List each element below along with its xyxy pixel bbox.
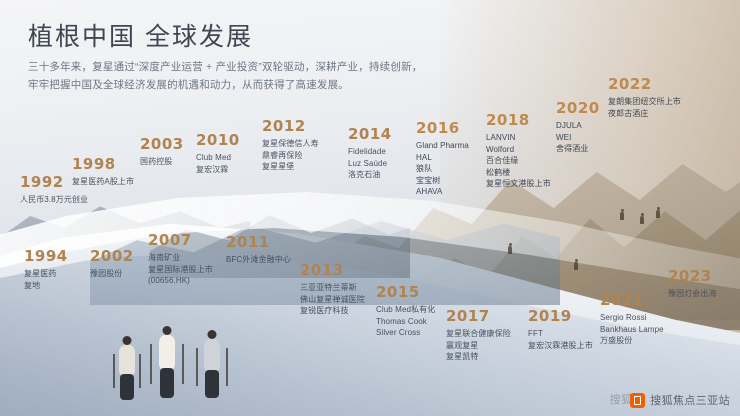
- timeline-desc-line: 狼队: [416, 163, 469, 175]
- page-title: 植根中国 全球发展: [28, 22, 253, 52]
- timeline-node-2022[interactable]: 2022 复朗集团纽交所上市 夜郎古酒庄: [608, 76, 681, 119]
- timeline-desc-line: 洛克石油: [348, 169, 392, 181]
- timeline-desc-line: BFC外滩金融中心: [226, 254, 291, 266]
- timeline-desc-line: 人民币3.8万元创业: [20, 194, 88, 206]
- page-subtitle: 三十多年来，复星通过“深度产业运营 + 产业投资”双轮驱动，深耕产业，持续创新，…: [28, 58, 498, 94]
- timeline-node-2010[interactable]: 2010 Club Med 复宏汉霖: [196, 132, 240, 175]
- timeline-year: 1998: [72, 156, 134, 173]
- timeline-desc: 国药控股: [140, 156, 184, 168]
- timeline-desc-line: HAL: [416, 152, 469, 164]
- timeline-year: 2020: [556, 100, 600, 117]
- timeline-node-2012[interactable]: 2012 复星保德信人寿 鼎睿再保险 复星星堡: [262, 118, 319, 173]
- timeline-desc-line: 豫园股份: [90, 268, 134, 280]
- timeline-desc-line: Sergio Rossi: [600, 312, 664, 324]
- timeline-node-2021[interactable]: 2021 Sergio Rossi Bankhaus Lampe 万盛股份: [600, 292, 664, 347]
- timeline-year: 2002: [90, 248, 134, 265]
- timeline-desc: Sergio Rossi Bankhaus Lampe 万盛股份: [600, 312, 664, 347]
- timeline-desc: 豫园股份: [90, 268, 134, 280]
- timeline-desc-line: 夜郎古酒庄: [608, 108, 681, 120]
- timeline-desc: 复星保德信人寿 鼎睿再保险 复星星堡: [262, 138, 319, 173]
- timeline-year: 2012: [262, 118, 319, 135]
- timeline-desc-line: Bankhaus Lampe: [600, 324, 664, 336]
- timeline-desc: 三亚亚特兰蒂斯 佛山复星禅诚医院 复锐医疗科技: [300, 282, 365, 317]
- timeline-desc-line: 复星凯特: [446, 351, 511, 363]
- timeline-desc: FFT 复宏汉霖港股上市: [528, 328, 593, 351]
- timeline-desc-line: 复锐医疗科技: [300, 305, 365, 317]
- timeline-desc: Club Med 复宏汉霖: [196, 152, 240, 175]
- timeline-year: 1994: [24, 248, 68, 265]
- timeline-desc-line: 三亚亚特兰蒂斯: [300, 282, 365, 294]
- timeline-desc-line: Silver Cross: [376, 327, 435, 339]
- skier-figure: [150, 326, 184, 408]
- timeline-desc-line: WEI: [556, 132, 600, 144]
- timeline-node-1998[interactable]: 1998 复星医药A股上市: [72, 156, 134, 188]
- timeline-node-2014[interactable]: 2014 Fidelidade Luz Saúde 洛克石油: [348, 126, 392, 181]
- timeline-node-2017[interactable]: 2017 复星联合健康保险 赢观复星 复星凯特: [446, 308, 511, 363]
- timeline-node-2023[interactable]: 2023 豫园灯会出海: [668, 268, 717, 300]
- watermark-brand: 搜狐焦点三亚站: [630, 392, 730, 408]
- timeline-desc-line: 宝宝树: [416, 175, 469, 187]
- hiker-silhouette: [508, 246, 512, 254]
- timeline-year: 2019: [528, 308, 593, 325]
- timeline-year: 2010: [196, 132, 240, 149]
- timeline-node-1994[interactable]: 1994 复星医药 复地: [24, 248, 68, 291]
- timeline-node-2011[interactable]: 2011 BFC外滩金融中心: [226, 234, 291, 266]
- timeline-desc-line: 复朗集团纽交所上市: [608, 96, 681, 108]
- timeline-desc: LANVIN Wolford 百合佳缘 松鹤楼 复星恒文港股上市: [486, 132, 551, 190]
- timeline-desc: 海南矿业 复星国际港股上市 (00656.HK): [148, 252, 213, 287]
- timeline-year: 2022: [608, 76, 681, 93]
- timeline-desc: 复星医药A股上市: [72, 176, 134, 188]
- timeline-node-2018[interactable]: 2018 LANVIN Wolford 百合佳缘 松鹤楼 复星恒文港股上市: [486, 112, 551, 190]
- timeline-node-2016[interactable]: 2016 Gland Pharma HAL 狼队 宝宝树 AHAVA: [416, 120, 469, 198]
- timeline-desc-line: 国药控股: [140, 156, 184, 168]
- subtitle-line-2: 牢牢把握中国及全球经济发展的机遇和动力，从而获得了高速发展。: [28, 76, 498, 94]
- timeline-desc-line: (00656.HK): [148, 275, 213, 287]
- timeline-year: 2018: [486, 112, 551, 129]
- slide-canvas: 植根中国 全球发展 三十多年来，复星通过“深度产业运营 + 产业投资”双轮驱动，…: [0, 0, 740, 416]
- timeline-desc: Gland Pharma HAL 狼队 宝宝树 AHAVA: [416, 140, 469, 198]
- timeline-desc-line: 舍得酒业: [556, 143, 600, 155]
- timeline-desc-line: LANVIN: [486, 132, 551, 144]
- watermark-brand-text: 搜狐焦点三亚站: [650, 392, 730, 408]
- timeline-year: 2013: [300, 262, 365, 279]
- timeline-desc-line: 复星医药A股上市: [72, 176, 134, 188]
- hiker-silhouette: [640, 216, 644, 224]
- timeline-desc: BFC外滩金融中心: [226, 254, 291, 266]
- timeline-year: 2021: [600, 292, 664, 309]
- timeline-desc: 复星医药 复地: [24, 268, 68, 291]
- timeline-desc-line: 松鹤楼: [486, 167, 551, 179]
- timeline-desc-line: Thomas Cook: [376, 316, 435, 328]
- timeline-desc: Club Med私有化 Thomas Cook Silver Cross: [376, 304, 435, 339]
- timeline-year: 2007: [148, 232, 213, 249]
- timeline-year: 2016: [416, 120, 469, 137]
- timeline-year: 2017: [446, 308, 511, 325]
- timeline-desc-line: 豫园灯会出海: [668, 288, 717, 300]
- timeline-desc-line: Fidelidade: [348, 146, 392, 158]
- timeline-desc-line: 复宏汉霖: [196, 164, 240, 176]
- timeline-desc-line: 佛山复星禅诚医院: [300, 294, 365, 306]
- timeline-desc: DJULA WEI 舍得酒业: [556, 120, 600, 155]
- timeline-desc-line: 海南矿业: [148, 252, 213, 264]
- skier-figure: [112, 336, 142, 408]
- sohu-logo-icon: [630, 393, 645, 408]
- timeline-desc-line: FFT: [528, 328, 593, 340]
- timeline-desc-line: 复星医药: [24, 268, 68, 280]
- timeline-desc-line: 复星国际港股上市: [148, 264, 213, 276]
- timeline-desc-line: 赢观复星: [446, 340, 511, 352]
- timeline-node-2015[interactable]: 2015 Club Med私有化 Thomas Cook Silver Cros…: [376, 284, 435, 339]
- subtitle-line-1: 三十多年来，复星通过“深度产业运营 + 产业投资”双轮驱动，深耕产业，持续创新，: [28, 58, 498, 76]
- skier-figure: [196, 330, 228, 408]
- timeline-desc-line: 复星星堡: [262, 161, 319, 173]
- timeline-desc-line: Club Med私有化: [376, 304, 435, 316]
- hiker-silhouette: [656, 210, 660, 218]
- timeline-year: 2015: [376, 284, 435, 301]
- hiker-silhouette: [620, 212, 624, 220]
- timeline-year: 2011: [226, 234, 291, 251]
- timeline-desc-line: 复星恒文港股上市: [486, 178, 551, 190]
- timeline-desc-line: 复星保德信人寿: [262, 138, 319, 150]
- timeline-year: 2023: [668, 268, 717, 285]
- timeline-desc-line: DJULA: [556, 120, 600, 132]
- timeline-desc: 复星联合健康保险 赢观复星 复星凯特: [446, 328, 511, 363]
- timeline-node-2013[interactable]: 2013 三亚亚特兰蒂斯 佛山复星禅诚医院 复锐医疗科技: [300, 262, 365, 317]
- hiker-silhouette: [574, 262, 578, 270]
- timeline-year: 2003: [140, 136, 184, 153]
- timeline-desc-line: Wolford: [486, 144, 551, 156]
- timeline-desc-line: 鼎睿再保险: [262, 150, 319, 162]
- timeline-desc: 复朗集团纽交所上市 夜郎古酒庄: [608, 96, 681, 119]
- timeline-year: 2014: [348, 126, 392, 143]
- timeline-desc-line: 复地: [24, 280, 68, 292]
- timeline-desc-line: 复宏汉霖港股上市: [528, 340, 593, 352]
- timeline-node-2002[interactable]: 2002 豫园股份: [90, 248, 134, 280]
- timeline-node-2019[interactable]: 2019 FFT 复宏汉霖港股上市: [528, 308, 593, 351]
- timeline-node-2020[interactable]: 2020 DJULA WEI 舍得酒业: [556, 100, 600, 155]
- timeline-desc-line: AHAVA: [416, 186, 469, 198]
- timeline-desc: 人民币3.8万元创业: [20, 194, 88, 206]
- timeline-desc: 豫园灯会出海: [668, 288, 717, 300]
- timeline-desc-line: 复星联合健康保险: [446, 328, 511, 340]
- timeline-desc-line: Luz Saúde: [348, 158, 392, 170]
- timeline-desc: Fidelidade Luz Saúde 洛克石油: [348, 146, 392, 181]
- timeline-node-2003[interactable]: 2003 国药控股: [140, 136, 184, 168]
- timeline-desc-line: Club Med: [196, 152, 240, 164]
- timeline-desc-line: 万盛股份: [600, 335, 664, 347]
- timeline-desc-line: 百合佳缘: [486, 155, 551, 167]
- timeline-desc-line: Gland Pharma: [416, 140, 469, 152]
- timeline-node-2007[interactable]: 2007 海南矿业 复星国际港股上市 (00656.HK): [148, 232, 213, 287]
